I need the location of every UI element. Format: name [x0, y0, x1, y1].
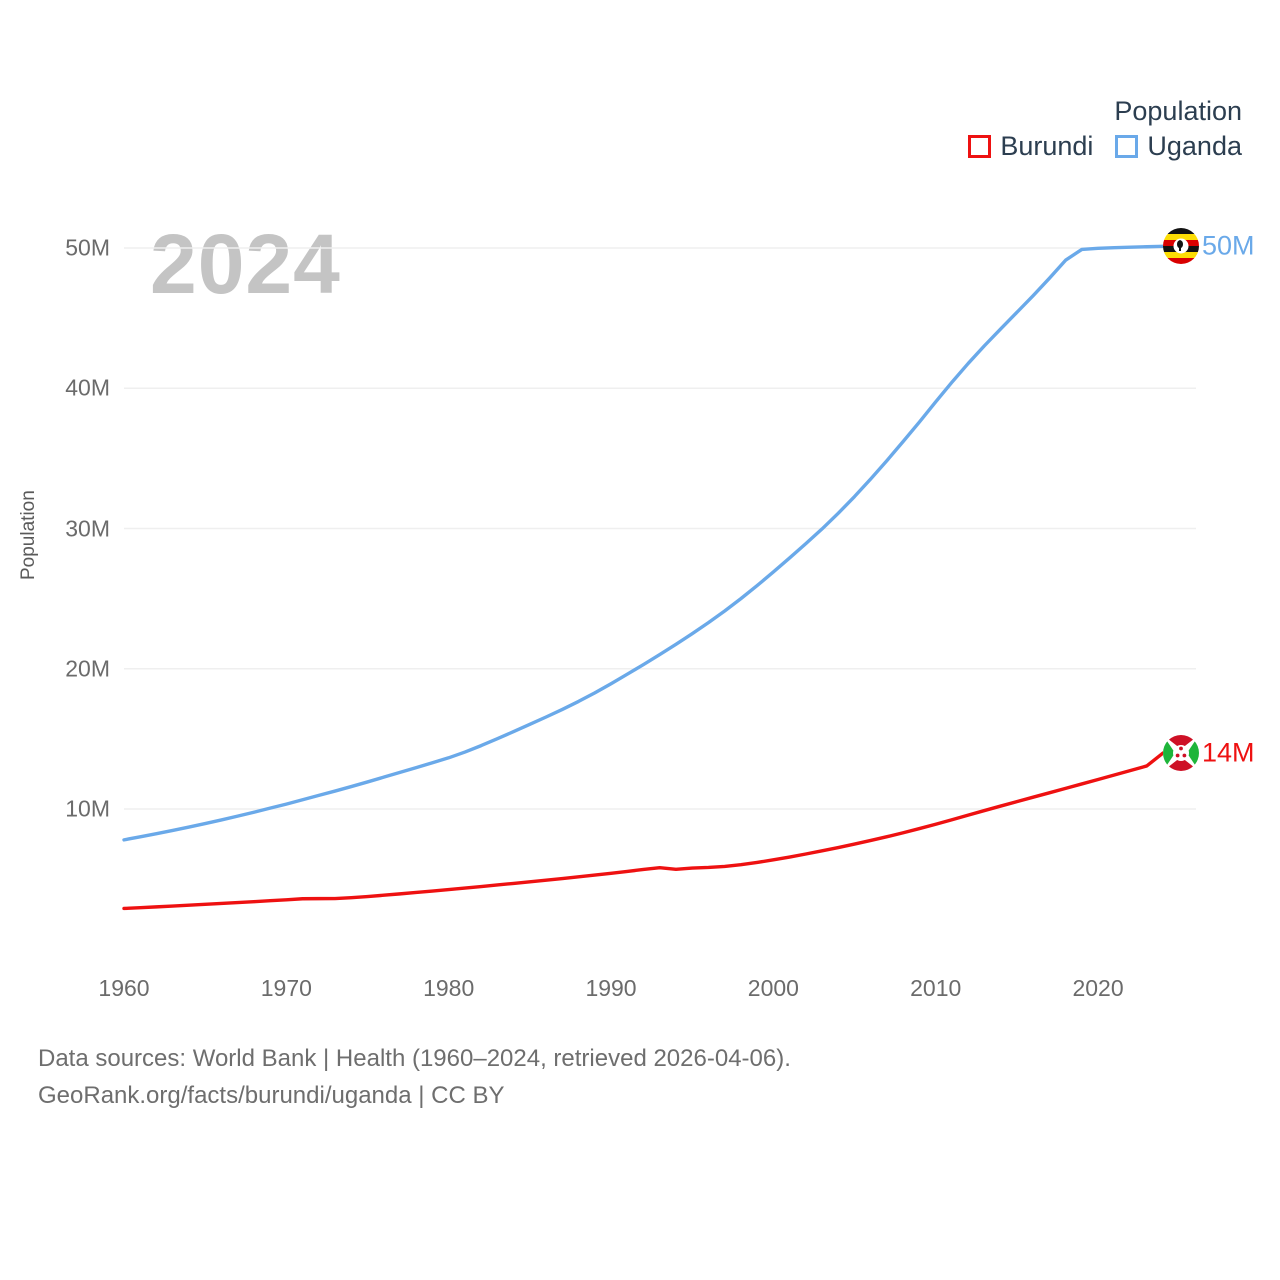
series-line-burundi[interactable] — [124, 753, 1163, 908]
y-axis-label: Population — [18, 490, 40, 580]
uganda-flag-icon — [1163, 228, 1199, 264]
chart-footer: Data sources: World Bank | Health (1960–… — [38, 1040, 791, 1114]
y-tick-label: 50M — [0, 235, 110, 262]
x-tick-label: 2020 — [1038, 975, 1158, 1002]
gridlines — [124, 248, 1196, 809]
end-value-label-uganda: 50M — [1202, 231, 1255, 262]
y-tick-label: 30M — [0, 515, 110, 542]
burundi-flag-icon — [1163, 735, 1199, 771]
x-tick-label: 1980 — [389, 975, 509, 1002]
x-tick-label: 2010 — [876, 975, 996, 1002]
x-tick-label: 2000 — [713, 975, 833, 1002]
y-tick-label: 40M — [0, 375, 110, 402]
footer-line-sources: Data sources: World Bank | Health (1960–… — [38, 1040, 791, 1077]
x-tick-label: 1960 — [64, 975, 184, 1002]
end-value-label-burundi: 14M — [1202, 738, 1255, 769]
x-tick-label: 1990 — [551, 975, 671, 1002]
series-line-uganda[interactable] — [124, 246, 1163, 840]
y-tick-label: 10M — [0, 796, 110, 823]
x-tick-label: 1970 — [226, 975, 346, 1002]
y-tick-label: 20M — [0, 655, 110, 682]
footer-line-attribution[interactable]: GeoRank.org/facts/burundi/uganda | CC BY — [38, 1077, 791, 1114]
